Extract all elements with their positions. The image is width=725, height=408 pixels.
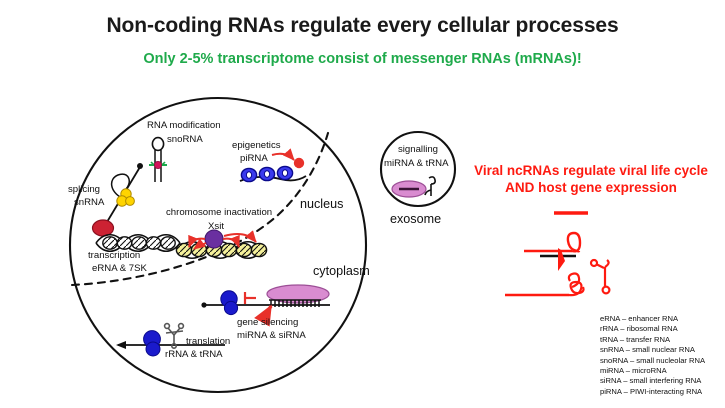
- legend-item-pirna: piRNA – PIWI-interacting RNA: [600, 387, 725, 397]
- label-snorna: snoRNA: [167, 134, 203, 145]
- label-signalling: signalling: [398, 144, 438, 155]
- label-rna-modification: RNA modification: [147, 120, 221, 131]
- slide-canvas: Non-coding RNAs regulate every cellular …: [0, 0, 725, 408]
- viral-rna-structures: [505, 213, 609, 295]
- legend-item-snorna: snoRNA – small nucleolar RNA: [600, 356, 725, 366]
- label-exosome: exosome: [390, 212, 441, 226]
- label-nucleus: nucleus: [300, 197, 343, 211]
- legend-item-mirna: miRNA – microRNA: [600, 366, 725, 376]
- legend-item-trna: tRNA – transfer RNA: [600, 335, 725, 345]
- legend-item-erna: eRNA – enhancer RNA: [600, 314, 725, 324]
- label-cytoplasm: cytoplasm: [313, 264, 370, 278]
- label-mirna-sirna: miRNA & siRNA: [237, 330, 306, 341]
- legend-item-rrna: rRNA – ribosomal RNA: [600, 324, 725, 334]
- label-pirna: piRNA: [240, 153, 268, 164]
- label-xsit: Xsit: [208, 221, 224, 232]
- xsit-locus: [205, 230, 223, 248]
- label-translation: translation: [186, 336, 230, 347]
- label-gene-silencing: gene silencing: [237, 317, 298, 328]
- label-splicing: splicing: [68, 184, 100, 195]
- rna-abbreviation-legend: eRNA – enhancer RNA rRNA – ribosomal RNA…: [600, 314, 725, 397]
- label-chromosome-inactivation: chromosome inactivation: [166, 207, 272, 218]
- process-transcription: [93, 220, 181, 251]
- label-transcription: transcription: [88, 250, 140, 261]
- process-rna-modification: [149, 138, 167, 182]
- label-snrna: snRNA: [74, 197, 105, 208]
- legend-item-sirna: siRNA – small interfering RNA: [600, 376, 725, 386]
- nucleosome-group: [241, 166, 292, 181]
- process-splicing: [104, 163, 143, 227]
- dna-helix-white: [96, 235, 180, 252]
- legend-item-snrna: snRNA – small nuclear RNA: [600, 345, 725, 355]
- label-mirna-trna: miRNA & tRNA: [384, 158, 449, 169]
- label-erna-7sk: eRNA & 7SK: [92, 263, 148, 274]
- label-epigenetics: epigenetics: [232, 140, 281, 151]
- label-rrna-trna: rRNA & tRNA: [165, 349, 223, 360]
